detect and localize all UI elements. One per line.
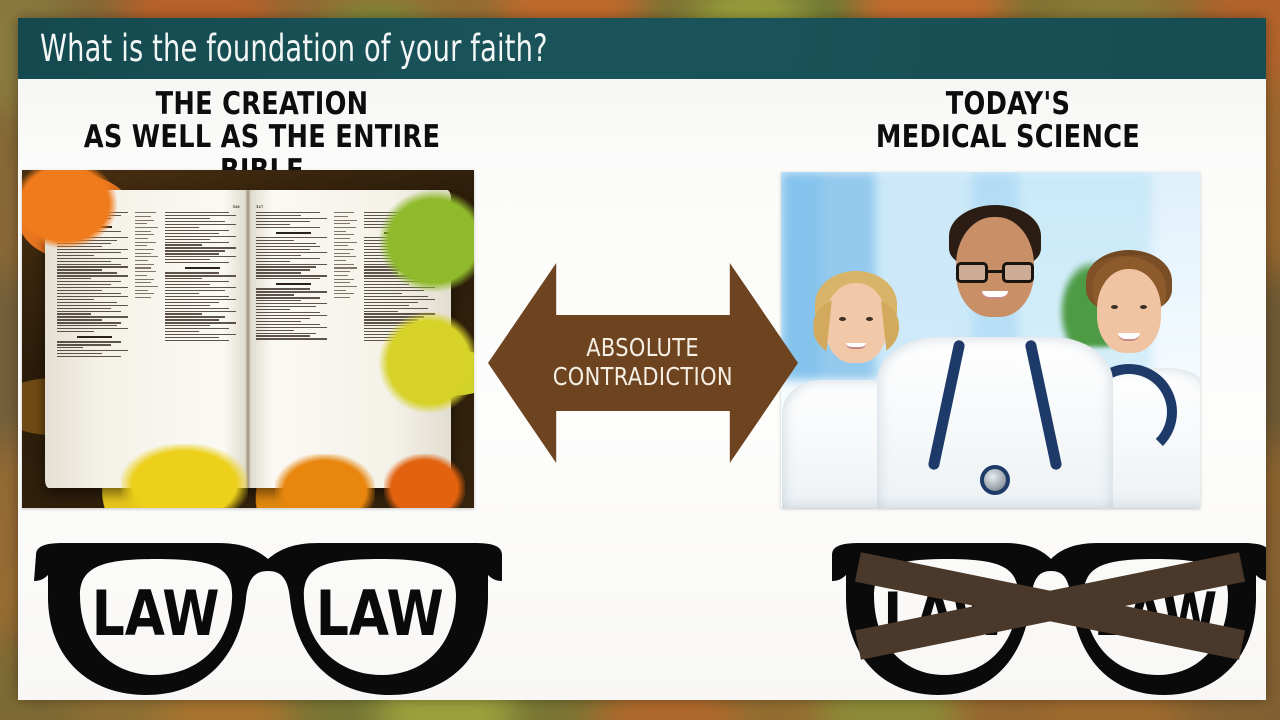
text-column (165, 212, 240, 472)
maple-leaf-icon (384, 454, 465, 508)
contradiction-arrow: ABSOLUTE CONTRADICTION (488, 263, 798, 463)
right-heading-line-2: MEDICAL SCIENCE (787, 121, 1229, 154)
slide-surface: What is the foundation of your faith? TH… (18, 18, 1266, 700)
lens-text-left: LAW (92, 578, 220, 650)
right-heading-line-1: TODAY'S (787, 88, 1229, 121)
eye (1111, 305, 1118, 309)
left-page-columns (57, 212, 240, 472)
eyeglasses-icon (956, 262, 1034, 284)
left-page-number: 526 (233, 205, 240, 209)
arrow-label-line-2: CONTRADICTION (553, 363, 733, 392)
text-column (57, 212, 132, 472)
glasses-icon: LAW LAW (18, 537, 518, 700)
cross-reference-column (334, 212, 361, 472)
eye (866, 317, 873, 321)
right-page-number: 527 (256, 205, 263, 209)
glasses-law-right-crossed: LAW LAW (816, 537, 1266, 700)
bible-image: PSALM 96:13 526 (22, 170, 474, 508)
mouth (982, 291, 1008, 299)
arrow-label: ABSOLUTE CONTRADICTION (488, 263, 798, 463)
cross-reference-column (135, 212, 162, 472)
maple-leaf-icon (121, 444, 248, 508)
face (825, 283, 887, 363)
eye (1140, 305, 1147, 309)
right-column-heading: TODAY'S MEDICAL SCIENCE (768, 88, 1248, 155)
text-column (256, 212, 331, 472)
maple-leaf-icon (22, 170, 117, 248)
eye (839, 317, 846, 321)
lens-text-right: LAW (316, 578, 444, 650)
mouth (846, 343, 866, 349)
maple-leaf-icon (379, 190, 474, 291)
face (1097, 269, 1161, 353)
maple-leaf-icon (275, 454, 374, 508)
glasses-law-left: LAW LAW (18, 537, 518, 700)
doctor-center-female (898, 192, 1091, 508)
arrow-label-line-1: ABSOLUTE (587, 334, 700, 363)
left-heading-line-1: THE CREATION (41, 88, 483, 121)
maple-leaf-icon (379, 312, 474, 413)
slide-title-bar: What is the foundation of your faith? (18, 18, 1266, 79)
page-title: What is the foundation of your faith? (40, 27, 548, 70)
stethoscope (935, 339, 1055, 489)
doctors-image (781, 172, 1200, 508)
mouth (1118, 333, 1140, 341)
